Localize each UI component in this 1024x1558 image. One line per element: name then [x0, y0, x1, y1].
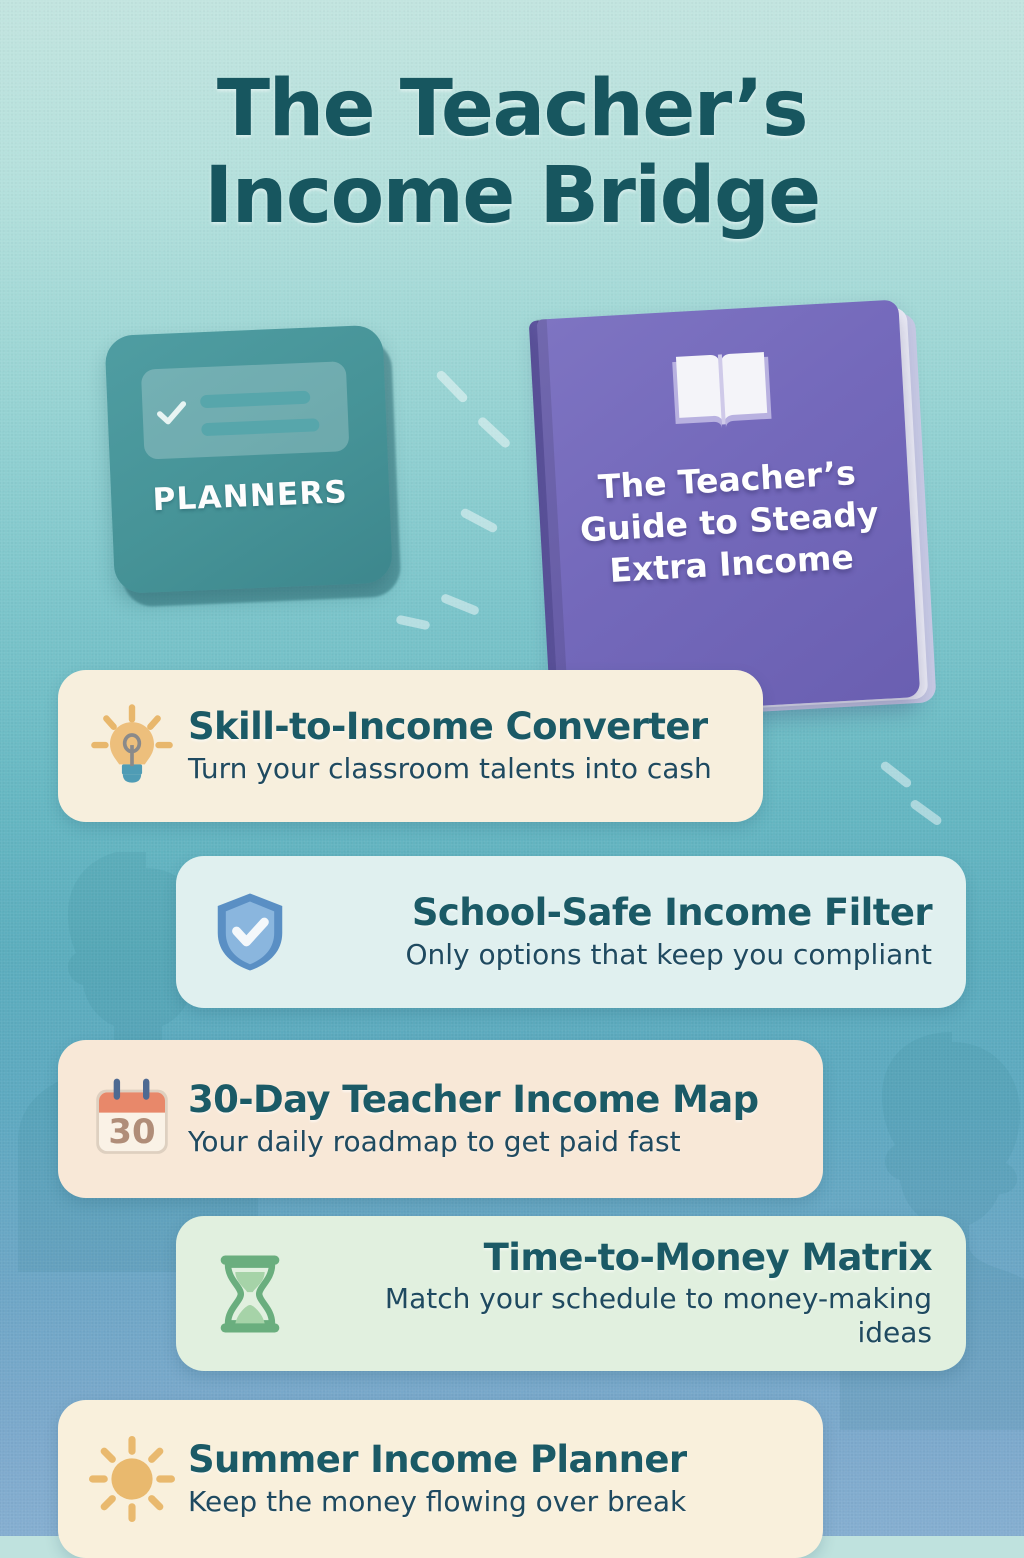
- feature-card-subtitle: Match your schedule to money-making idea…: [306, 1282, 932, 1350]
- open-book-icon: [668, 349, 776, 437]
- feature-card-text: Skill-to-Income Converter Turn your clas…: [180, 706, 737, 786]
- checklist-line: [201, 418, 319, 436]
- page-title-line-1: The Teacher’s: [0, 66, 1024, 153]
- checklist-line: [200, 391, 310, 409]
- feature-card-summer-income-planner[interactable]: Summer Income Planner Keep the money flo…: [58, 1400, 823, 1558]
- sun-icon: [84, 1431, 180, 1527]
- feature-card-title: Time-to-Money Matrix: [306, 1237, 932, 1278]
- feature-card-text: Summer Income Planner Keep the money flo…: [180, 1439, 797, 1519]
- feature-card-title: Summer Income Planner: [188, 1439, 789, 1480]
- feature-card-subtitle: Your daily roadmap to get paid fast: [188, 1125, 789, 1159]
- checklist-panel: [141, 361, 350, 460]
- feature-card-title: 30-Day Teacher Income Map: [188, 1079, 789, 1120]
- lightbulb-icon: [84, 698, 180, 794]
- check-icon: [156, 398, 187, 429]
- page-title-line-2: Income Bridge: [0, 153, 1024, 240]
- feature-card-subtitle: Keep the money flowing over break: [188, 1485, 789, 1519]
- feature-card-text: Time-to-Money Matrix Match your schedule…: [298, 1237, 940, 1351]
- hourglass-icon: [202, 1246, 298, 1342]
- planners-label: PLANNERS: [111, 472, 390, 520]
- calendar-icon: 30: [84, 1071, 180, 1167]
- planners-product-card: PLANNERS: [104, 324, 405, 608]
- planners-card-face: PLANNERS: [104, 325, 393, 594]
- feature-card-subtitle: Turn your classroom talents into cash: [188, 752, 729, 786]
- feature-card-time-to-money-matrix[interactable]: Time-to-Money Matrix Match your schedule…: [176, 1216, 966, 1371]
- book-cover: The Teacher’s Guide to Steady Extra Inco…: [537, 299, 921, 717]
- feature-card-30-day-teacher-income-map[interactable]: 30 30-Day Teacher Income Map Your daily …: [58, 1040, 823, 1198]
- page-title: The Teacher’s Income Bridge: [0, 66, 1024, 241]
- feature-card-text: 30-Day Teacher Income Map Your daily roa…: [180, 1079, 797, 1159]
- feature-card-title: Skill-to-Income Converter: [188, 706, 729, 747]
- feature-card-subtitle: Only options that keep you compliant: [306, 938, 932, 972]
- feature-card-text: School-Safe Income Filter Only options t…: [298, 892, 940, 972]
- svg-text:30: 30: [108, 1112, 155, 1151]
- shield-check-icon: [202, 884, 298, 980]
- feature-card-school-safe-income-filter[interactable]: School-Safe Income Filter Only options t…: [176, 856, 966, 1008]
- feature-card-skill-to-income-converter[interactable]: Skill-to-Income Converter Turn your clas…: [58, 670, 763, 822]
- book-title: The Teacher’s Guide to Steady Extra Inco…: [563, 450, 896, 595]
- feature-card-title: School-Safe Income Filter: [306, 892, 932, 933]
